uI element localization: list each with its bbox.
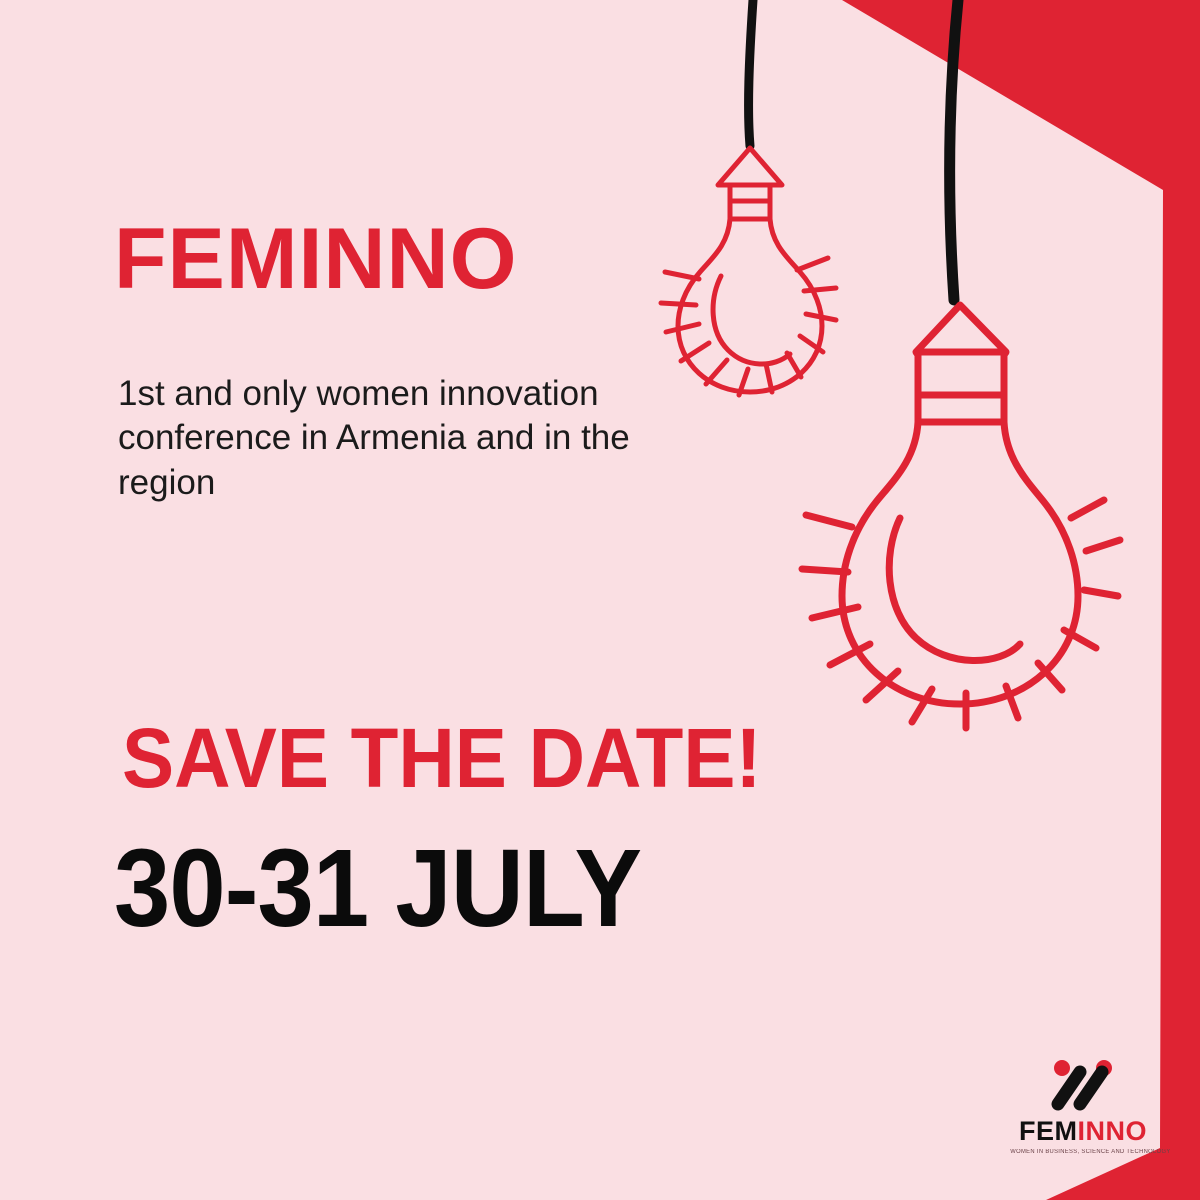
logo-wordmark-inno: INNO <box>1078 1116 1148 1146</box>
save-the-date-headline: SAVE THE DATE! <box>122 716 761 800</box>
logo-subtitle: WOMEN IN BUSINESS, SCIENCE AND TECHNOLOG… <box>1010 1149 1156 1155</box>
page-title: FEMINNO <box>114 216 518 302</box>
event-date: 30-31 JULY <box>114 834 641 944</box>
logo-wordmark-fem: FEM <box>1019 1116 1078 1146</box>
feminno-slash-mark-icon <box>1046 1058 1120 1112</box>
footer-logo: FEMINNO WOMEN IN BUSINESS, SCIENCE AND T… <box>1008 1058 1158 1155</box>
logo-dot-left-icon <box>1054 1060 1070 1076</box>
brand-tagline: 1st and only women innovation conference… <box>118 372 658 505</box>
poster-text-layer: FEMINNO 1st and only women innovation co… <box>0 0 1200 1200</box>
logo-wordmark: FEMINNO <box>1008 1118 1158 1145</box>
poster-canvas: FEMINNO 1st and only women innovation co… <box>0 0 1200 1200</box>
